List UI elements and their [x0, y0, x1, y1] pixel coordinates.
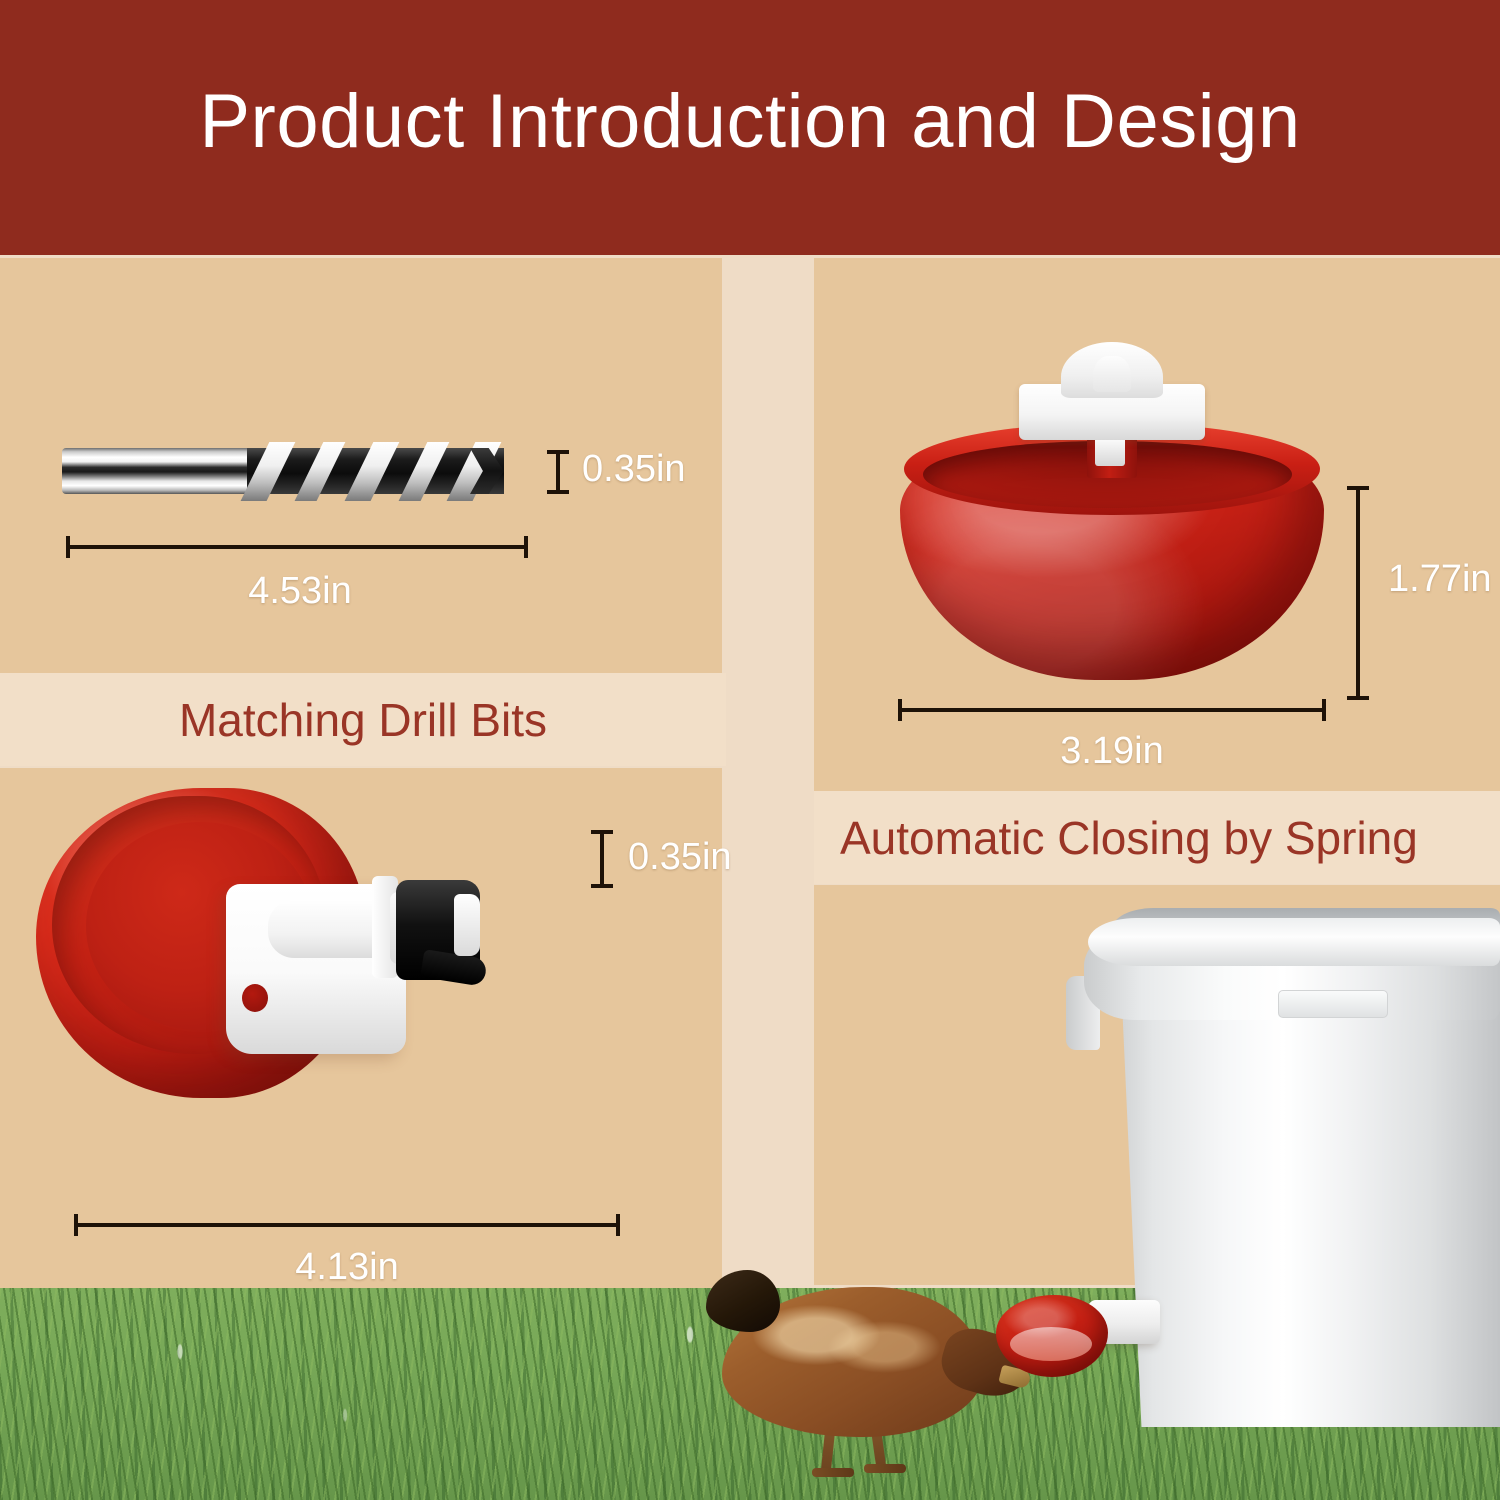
mounting-hole	[242, 984, 268, 1012]
caption-automatic-closing-by-spring: Automatic Closing by Spring	[814, 791, 1500, 884]
dimension-label-drill-length: 4.53in	[0, 570, 600, 613]
drill-bit-flute-edge	[399, 442, 450, 501]
dimension-label-cup-width: 3.19in	[898, 730, 1326, 773]
hen-foot	[812, 1468, 854, 1477]
dimension-line-drill-length	[66, 545, 528, 549]
dimension-line-assembly-length	[74, 1223, 620, 1227]
water-cup-side-illustration	[36, 788, 506, 1108]
drill-bit-flute-edge	[345, 442, 400, 501]
water-cup-front-illustration	[900, 350, 1324, 680]
dimension-line-cup-height	[1356, 486, 1360, 700]
dimension-label-thread-diameter: 0.35in	[628, 836, 732, 879]
panel-water-cup-front: 1.77in 3.19in	[814, 258, 1500, 791]
drill-bit-illustration	[62, 448, 532, 494]
infographic-page: Product Introduction and Design 0.35in 4…	[0, 0, 1500, 1500]
bucket-side-grip	[1278, 990, 1388, 1018]
drill-bit-flute-edge	[241, 442, 296, 501]
nipple-end-cap	[454, 894, 480, 956]
dimension-line-thread-diameter	[600, 830, 604, 888]
page-title: Product Introduction and Design	[0, 78, 1500, 165]
drill-bit-flute-edge	[295, 442, 346, 501]
dimension-line-drill-diameter	[556, 450, 560, 494]
dimension-label-cup-height: 1.77in	[1388, 558, 1492, 601]
bucket-lip	[1088, 918, 1500, 966]
drill-bit-shank	[62, 448, 252, 494]
valve-pin	[1095, 440, 1125, 466]
panel-water-cup-side: 0.35in 4.13in	[0, 768, 722, 1288]
dimension-line-cup-width	[898, 708, 1326, 712]
cup-water-surface	[1010, 1327, 1092, 1361]
hen-foot	[864, 1464, 906, 1473]
valve-push-nub	[1093, 356, 1131, 392]
caption-text-cup: Automatic Closing by Spring	[840, 811, 1418, 865]
bucket-body	[1106, 997, 1500, 1427]
dimension-label-assembly-length: 4.13in	[74, 1246, 620, 1289]
panel-drill-bit: 0.35in 4.53in	[0, 258, 722, 673]
caption-text-drill: Matching Drill Bits	[179, 693, 547, 747]
header-banner: Product Introduction and Design	[0, 0, 1500, 255]
dimension-label-drill-diameter: 0.35in	[582, 448, 686, 491]
caption-matching-drill-bits: Matching Drill Bits	[0, 673, 726, 766]
drill-bit-flute-body	[247, 448, 504, 494]
